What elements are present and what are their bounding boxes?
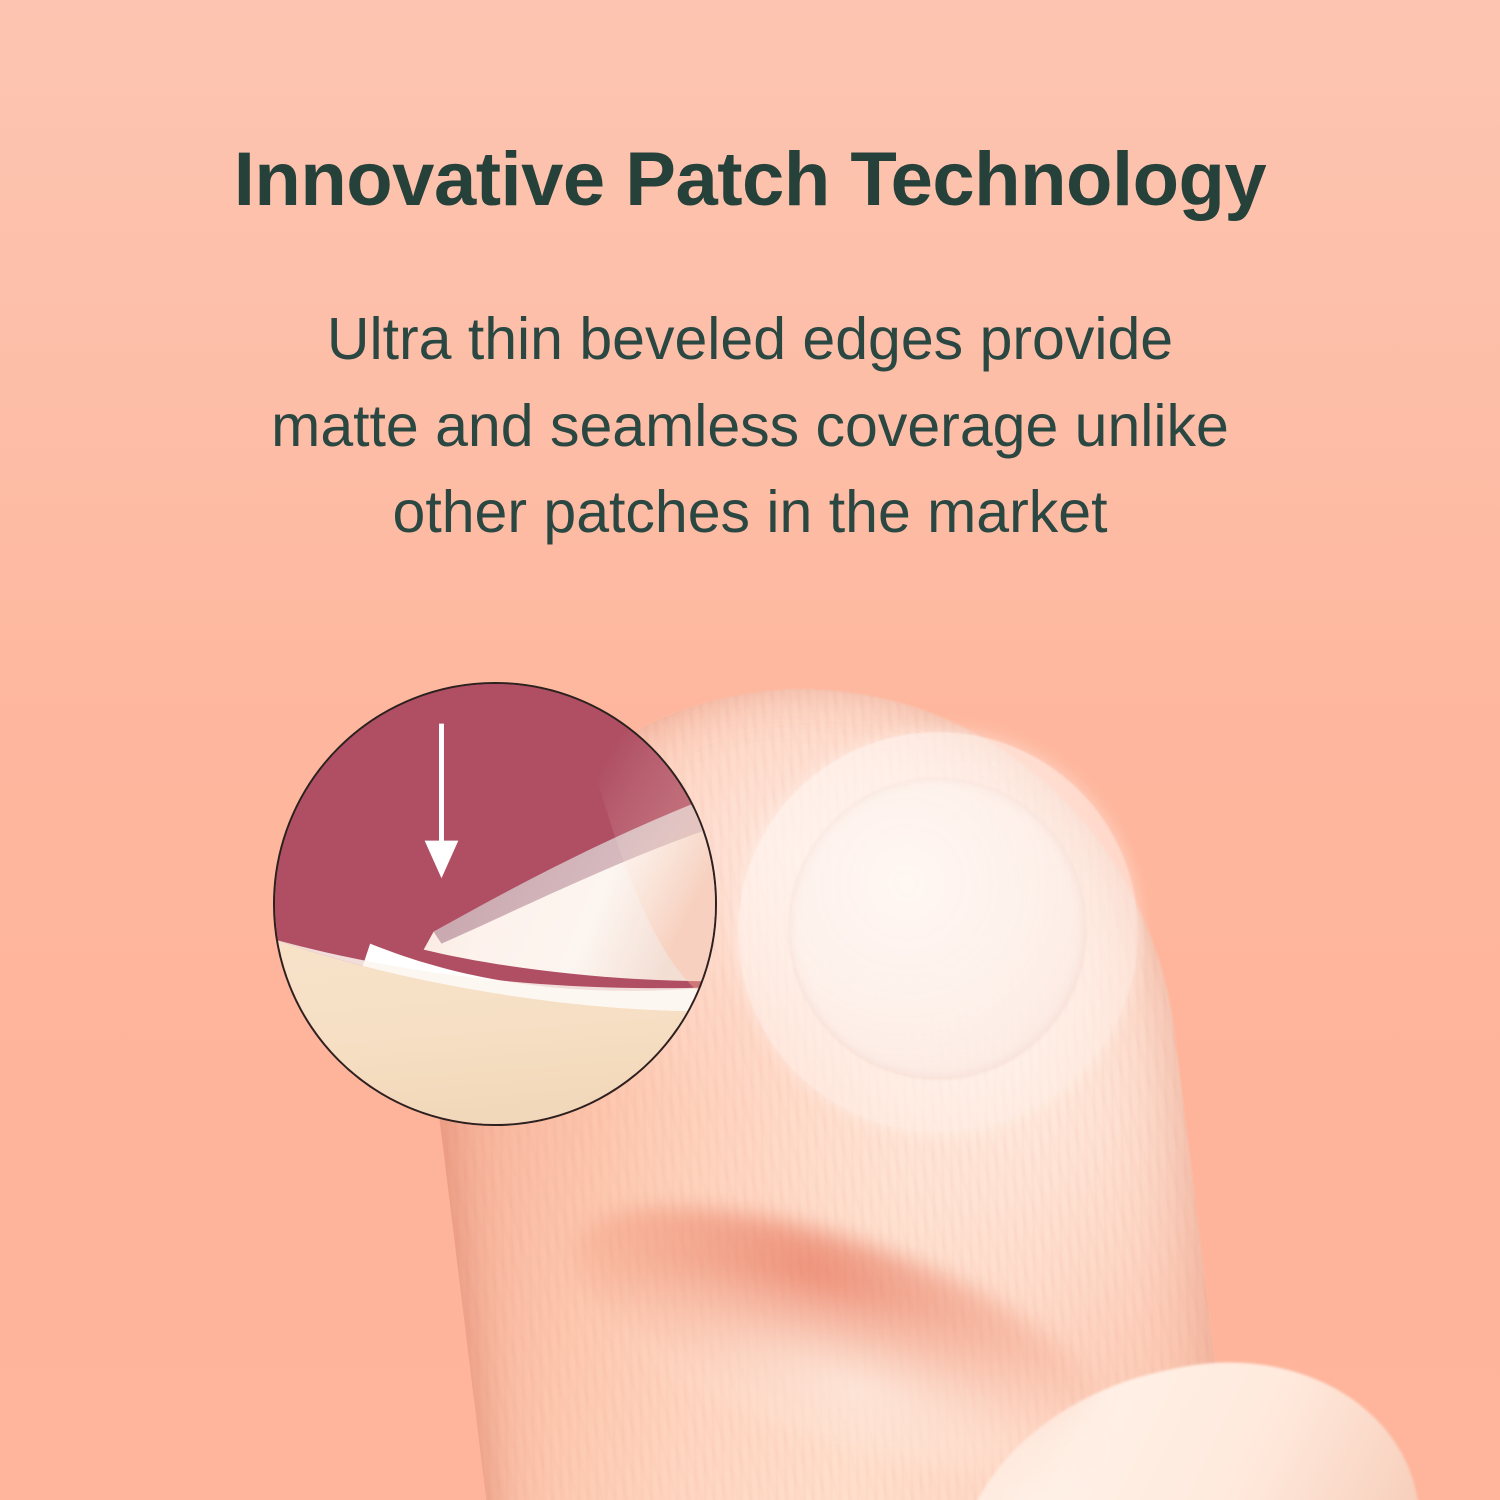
- page-title: Innovative Patch Technology: [0, 138, 1500, 222]
- product-photo: [0, 600, 1500, 1500]
- patch-inner-disc: [768, 757, 1107, 1100]
- subheadline: Ultra thin beveled edges provide matte a…: [0, 296, 1500, 556]
- magnified-cross-section-diagram: [273, 682, 717, 1126]
- subheadline-line-3: other patches in the market: [0, 469, 1500, 556]
- subheadline-line-1: Ultra thin beveled edges provide: [0, 296, 1500, 383]
- product-feature-graphic: Innovative Patch Technology Ultra thin b…: [0, 0, 1500, 1500]
- subheadline-line-2: matte and seamless coverage unlike: [0, 383, 1500, 470]
- cross-section-illustration: [275, 684, 715, 1124]
